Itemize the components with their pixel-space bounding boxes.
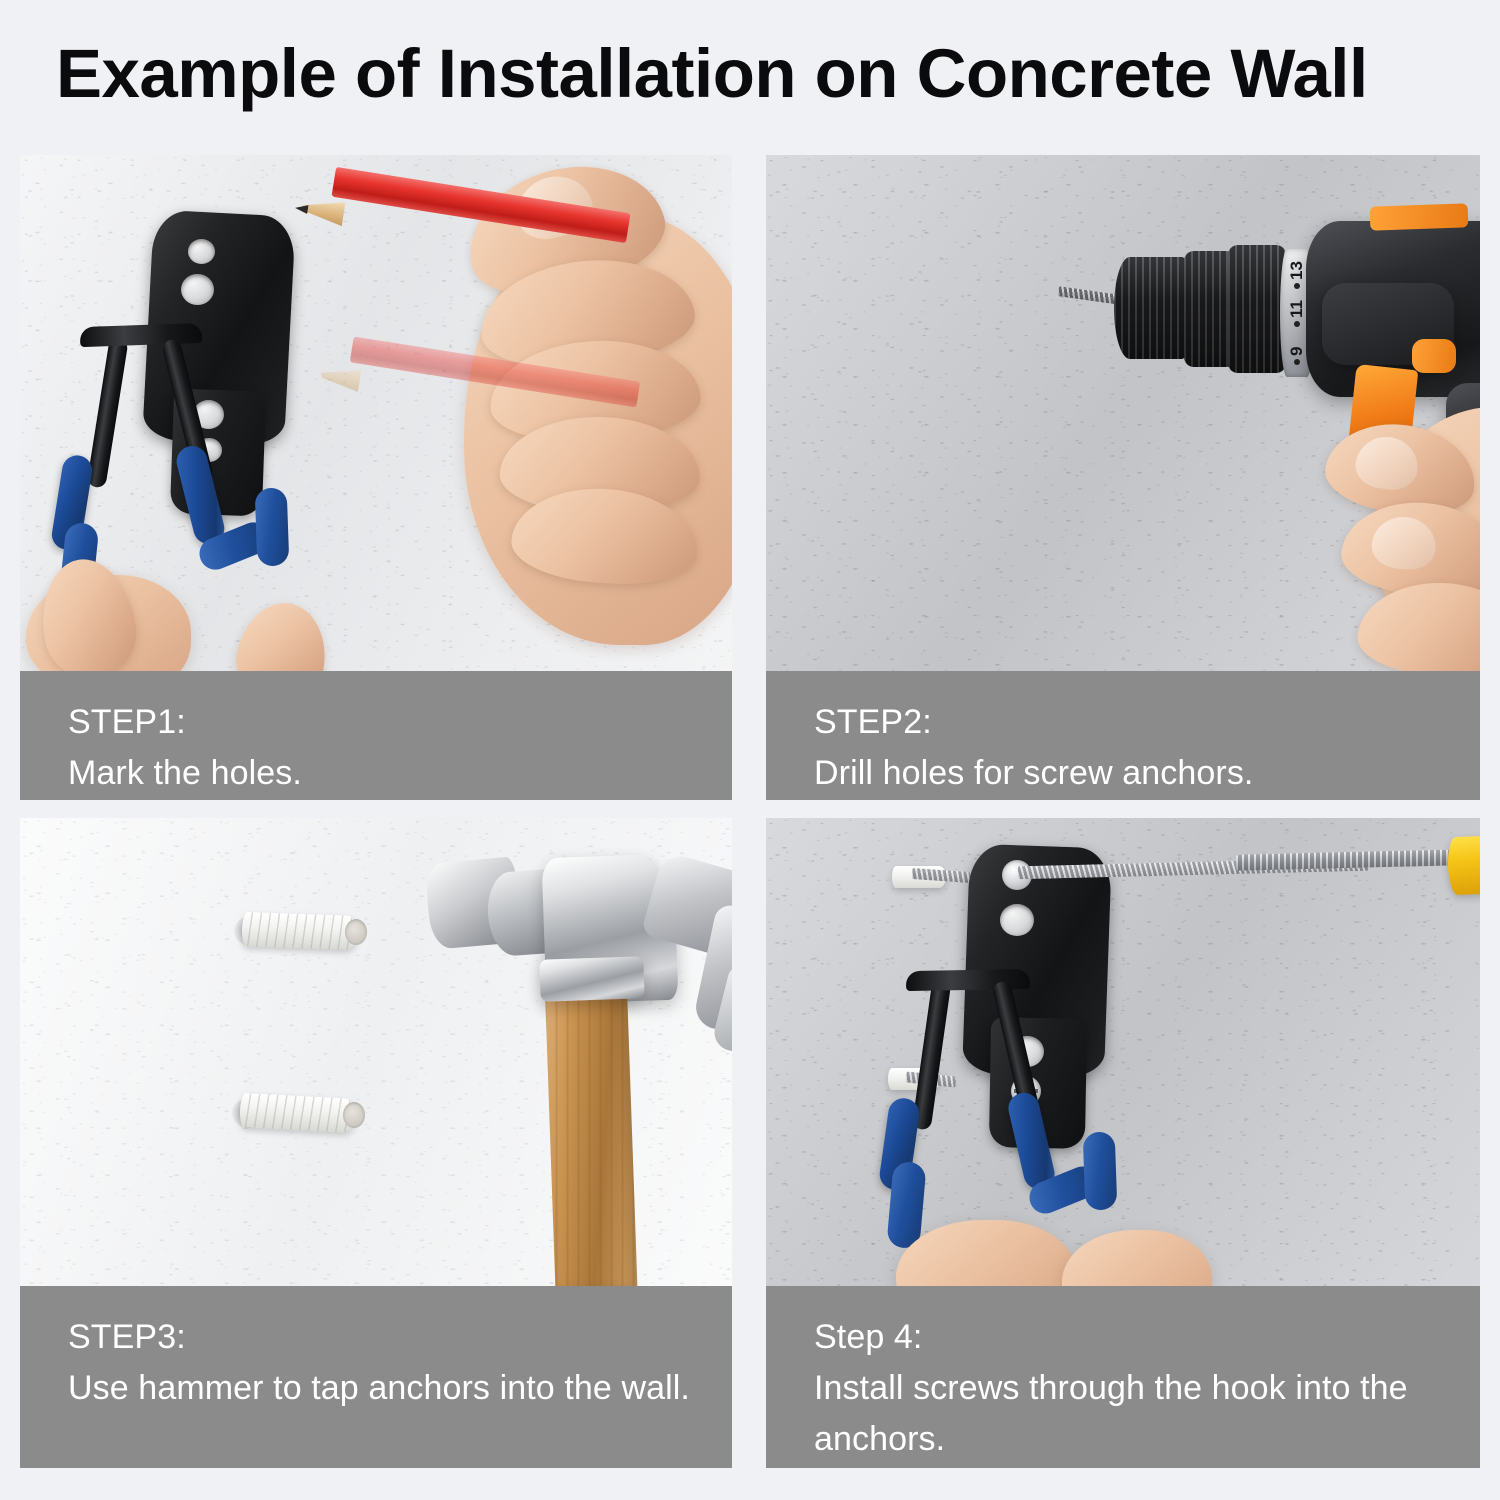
wall-anchor-bottom: [239, 1093, 357, 1133]
step-1-label: STEP1:: [68, 697, 732, 748]
collar-dot-1: [1294, 283, 1300, 289]
step-card-3: STEP3: Use hammer to tap anchors into th…: [20, 818, 732, 1468]
step-3-photo: [20, 818, 732, 1286]
page-title: Example of Installation on Concrete Wall: [56, 33, 1456, 115]
step-3-label: STEP3:: [68, 1312, 732, 1363]
mounting-hole-upper-mid: [181, 274, 214, 305]
step-2-label: STEP2:: [814, 697, 1480, 748]
step-4-photo: [766, 818, 1480, 1286]
installation-guide-page: Example of Installation on Concrete Wall: [0, 0, 1500, 1500]
anchor-mouth-top: [345, 919, 367, 945]
hammer-handle: [544, 973, 637, 1286]
step-1-photo: [20, 155, 732, 671]
step-4-caption: Step 4: Install screws through the hook …: [766, 1286, 1480, 1468]
drill-direction-switch: [1412, 339, 1456, 373]
hook-tip-right-cap: [255, 487, 290, 566]
wall-anchor-top: [241, 912, 358, 950]
mounting-hole-top: [188, 239, 215, 264]
anchor-ribs-bottom: [239, 1093, 357, 1133]
hammer-wedge-collar: [539, 956, 644, 1002]
step-card-4: Step 4: Install screws through the hook …: [766, 818, 1480, 1468]
step-card-1: STEP1: Mark the holes.: [20, 155, 732, 800]
collar-number-13: 13: [1287, 254, 1307, 280]
step-4-description: Install screws through the hook into the…: [814, 1363, 1480, 1465]
drill-top-accent: [1370, 203, 1469, 230]
hook-crossbar: [80, 323, 203, 347]
drill-chuck: [1114, 257, 1192, 359]
mounting-hole-upper-mid: [1000, 904, 1034, 936]
concrete-wall-background: [766, 818, 1480, 1286]
anchor-mouth-bottom: [343, 1102, 365, 1128]
collar-number-11: 11: [1287, 292, 1307, 318]
collar-dot-2: [1294, 321, 1300, 327]
step-1-caption: STEP1: Mark the holes.: [20, 671, 732, 800]
step-card-2: 13 11 9 STEP2:: [766, 155, 1480, 800]
anchor-ribs-top: [241, 912, 358, 950]
collar-number-9: 9: [1287, 330, 1307, 356]
hammer-handle-grain: [544, 973, 637, 1286]
drill-gear-sleeve: [1228, 245, 1286, 373]
step-2-caption: STEP2: Drill holes for screw anchors.: [766, 671, 1480, 800]
step-3-caption: STEP3: Use hammer to tap anchors into th…: [20, 1286, 732, 1468]
screwdriver-collar: [1447, 835, 1480, 895]
step-3-description: Use hammer to tap anchors into the wall.: [68, 1363, 732, 1414]
step-2-photo: 13 11 9: [766, 155, 1480, 671]
step-2-description: Drill holes for screw anchors.: [814, 748, 1480, 799]
step-4-label: Step 4:: [814, 1312, 1480, 1363]
step-1-description: Mark the holes.: [68, 748, 732, 799]
collar-dot-3: [1294, 359, 1300, 365]
hook-tip-right-cap: [1083, 1131, 1118, 1210]
